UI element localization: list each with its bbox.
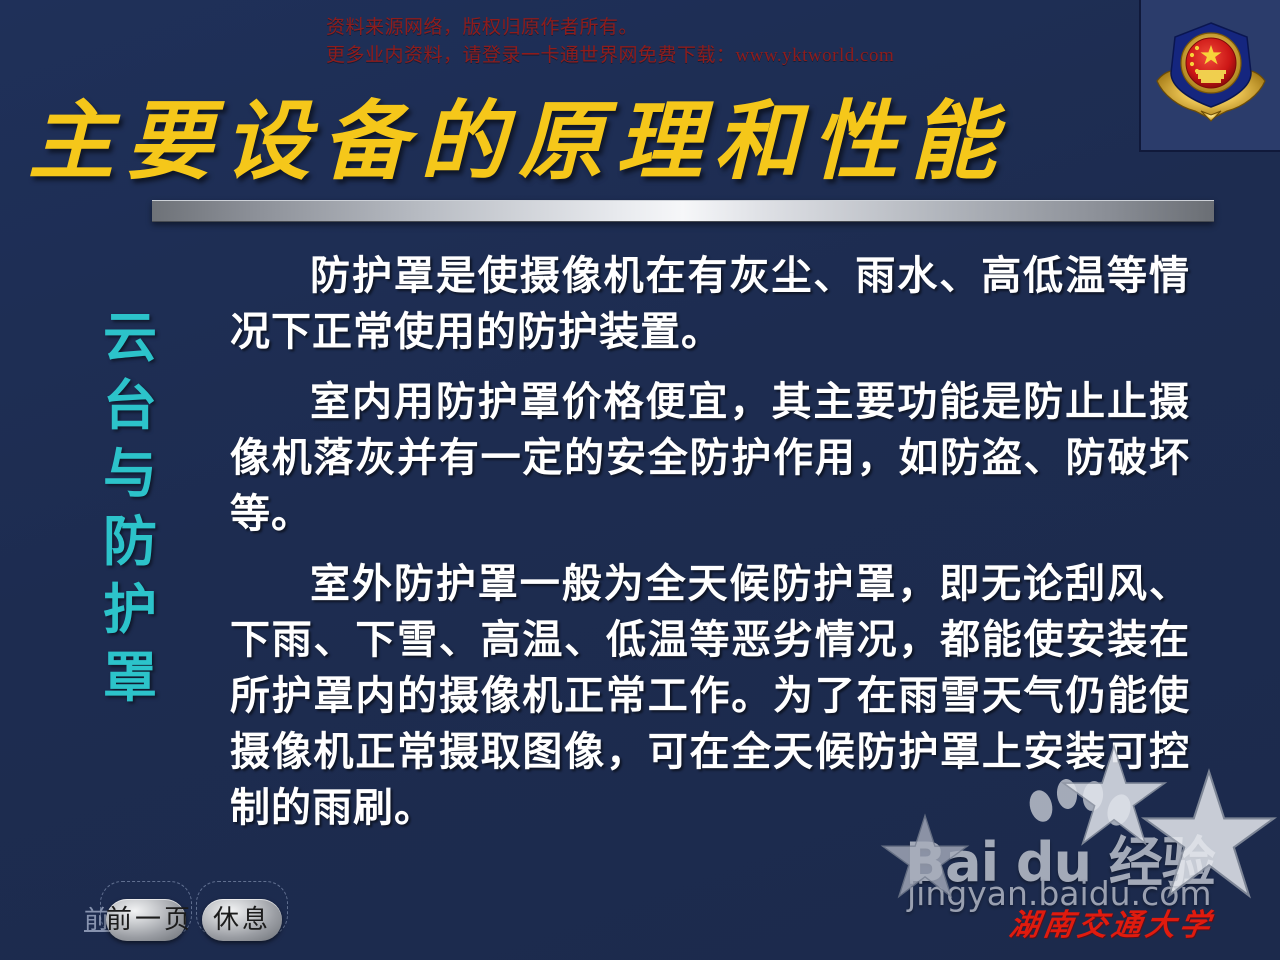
sidebar-char-2: 与 (92, 440, 168, 508)
slide-body: 防护罩是使摄像机在有灰尘、雨水、高低温等情况下正常使用的防护装置。 室内用防护罩… (230, 248, 1190, 850)
sidebar-char-3: 防 (92, 508, 168, 576)
sidebar-char-4: 护 (92, 576, 168, 644)
sidebar-char-1: 台 (92, 372, 168, 440)
university-stamp: 湖南交通大学 (1007, 900, 1217, 944)
metallic-divider (152, 200, 1214, 222)
body-paragraph-3: 室外防护罩一般为全天候防护罩，即无论刮风、下雨、下雪、高温、低温等恶劣情况，都能… (230, 556, 1190, 836)
body-paragraph-2: 室内用防护罩价格便宜，其主要功能是防止止摄像机落灰并有一定的安全防护作用，如防盗… (230, 374, 1190, 542)
rest-button[interactable]: 休息 (202, 899, 282, 941)
source-notice-line-1: 资料来源网络，版权归原作者所有。 (326, 14, 894, 42)
police-emblem-icon (1151, 15, 1271, 135)
source-notice-line-2: 更多业内资料，请登录一卡通世界网免费下载：www.yktworld.com (326, 42, 894, 70)
police-emblem (1139, 0, 1280, 152)
section-label-vertical: 云 台 与 防 护 罩 (92, 304, 168, 712)
slide-canvas: 资料来源网络，版权归原作者所有。 更多业内资料，请登录一卡通世界网免费下载：ww… (0, 0, 1280, 960)
sidebar-char-0: 云 (92, 304, 168, 372)
body-paragraph-1: 防护罩是使摄像机在有灰尘、雨水、高低温等情况下正常使用的防护装置。 (230, 248, 1190, 360)
slide-title: 主要设备的原理和性能 (28, 96, 988, 188)
sidebar-char-5: 罩 (92, 644, 168, 712)
prev-page-button[interactable]: 前一页 (106, 899, 186, 941)
star-decoration-icon (1140, 766, 1278, 904)
source-notice: 资料来源网络，版权归原作者所有。 更多业内资料，请登录一卡通世界网免费下载：ww… (326, 14, 894, 70)
